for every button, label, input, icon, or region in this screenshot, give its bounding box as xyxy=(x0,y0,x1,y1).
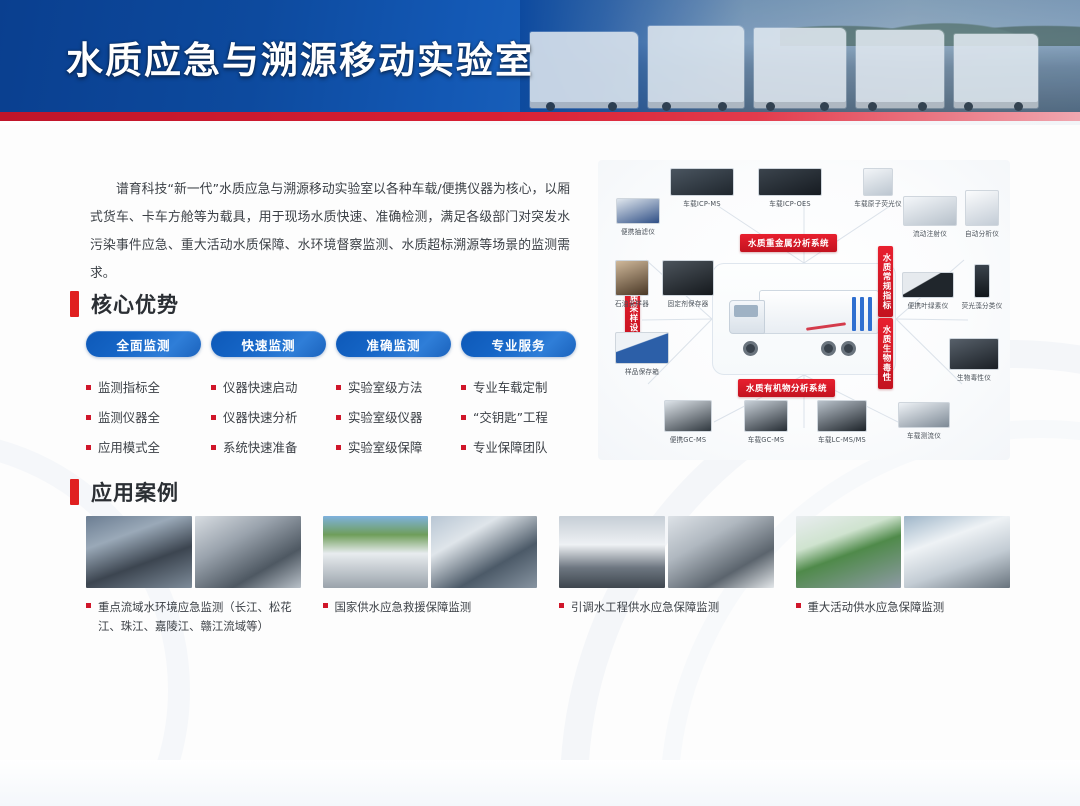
equipment-image xyxy=(744,400,788,432)
advantage-label: “交钥匙”工程 xyxy=(473,408,548,426)
advantage-item: 专业车载定制 xyxy=(461,378,576,396)
equipment-icp-oes: 车载ICP-OES xyxy=(758,168,822,208)
advantage-item: 实验室级保障 xyxy=(336,438,451,456)
truck-wheel xyxy=(841,341,856,356)
case-photo xyxy=(195,516,301,588)
case-caption: 重点流域水环境应急监测（长江、松花江、珠江、嘉陵江、赣江流域等） xyxy=(86,598,301,636)
case-caption-text: 重大活动供水应急保障监测 xyxy=(808,598,945,617)
case-item[interactable]: 引调水工程供水应急保障监测 xyxy=(559,516,774,636)
truck-shape xyxy=(648,26,744,108)
equipment-auto-analyzer: 自动分析仪 xyxy=(950,190,1014,238)
case-photo xyxy=(86,516,192,588)
equipment-flow-meter: 车载测流仪 xyxy=(892,402,956,440)
case-caption: 国家供水应急救援保障监测 xyxy=(323,598,538,617)
intro-paragraph: 谱育科技“新一代”水质应急与溯源移动实验室以各种车载/便携仪器为核心，以厢式货车… xyxy=(90,176,570,288)
case-item[interactable]: 国家供水应急救援保障监测 xyxy=(323,516,538,636)
footer-band xyxy=(0,760,1080,806)
equipment-image xyxy=(965,190,999,226)
core-advantages-heading: 核心优势 xyxy=(70,289,179,319)
badge-biotoxicity: 水质生物毒性 xyxy=(878,318,893,389)
advantage-item: 应用模式全 xyxy=(86,438,201,456)
bullet-square-icon xyxy=(336,385,341,390)
application-cases-heading: 应用案例 xyxy=(70,477,179,507)
advantage-pill-service[interactable]: 专业服务 xyxy=(461,331,576,357)
equipment-image xyxy=(664,400,712,432)
equipment-label: 便携GC-MS xyxy=(656,434,720,444)
section-title: 核心优势 xyxy=(91,289,179,319)
equipment-label: 自动分析仪 xyxy=(950,228,1014,238)
equipment-image xyxy=(898,402,950,428)
advantage-label: 监测指标全 xyxy=(98,378,160,396)
case-item[interactable]: 重大活动供水应急保障监测 xyxy=(796,516,1011,636)
bullet-square-icon xyxy=(86,385,91,390)
truck-cab xyxy=(729,300,765,334)
red-bar-marker xyxy=(70,291,79,317)
equipment-image xyxy=(615,260,649,296)
equipment-fixative-case: 固定剂保存器 xyxy=(656,260,720,308)
equipment-vehicle-gcms: 车载GC-MS xyxy=(734,400,798,444)
equipment-label: 车载LC-MS/MS xyxy=(810,434,874,444)
section-title: 应用案例 xyxy=(91,477,179,507)
advantage-pill-fast[interactable]: 快速监测 xyxy=(211,331,326,357)
bullet-square-icon xyxy=(336,415,341,420)
case-caption-text: 重点流域水环境应急监测（长江、松花江、珠江、嘉陵江、赣江流域等） xyxy=(98,598,301,636)
equipment-label: 固定剂保存器 xyxy=(656,298,720,308)
banner-truck-photo xyxy=(520,0,1080,112)
equipment-label: 生物毒性仪 xyxy=(942,372,1006,382)
truck-shape xyxy=(954,34,1038,108)
advantage-column: 仪器快速启动 仪器快速分析 系统快速准备 xyxy=(211,370,326,456)
equipment-image xyxy=(616,198,660,224)
equipment-label: 车载ICP-MS xyxy=(670,198,734,208)
truck-window xyxy=(734,305,758,317)
advantage-label: 实验室级保障 xyxy=(348,438,422,456)
instrument-rack xyxy=(852,297,856,331)
equipment-label: 车载测流仪 xyxy=(892,430,956,440)
equipment-label: 荧光藻分类仪 xyxy=(950,300,1014,310)
badge-routine-indicators: 水质常规指标 xyxy=(878,246,893,317)
advantage-item: 监测仪器全 xyxy=(86,408,201,426)
advantage-item: 实验室级仪器 xyxy=(336,408,451,426)
equipment-algae-classifier: 荧光藻分类仪 xyxy=(950,264,1014,310)
advantage-label: 系统快速准备 xyxy=(223,438,297,456)
case-item[interactable]: 重点流域水环境应急监测（长江、松花江、珠江、嘉陵江、赣江流域等） xyxy=(86,516,301,636)
bullet-square-icon xyxy=(211,385,216,390)
case-photo xyxy=(559,516,665,588)
advantage-column: 实验室级方法 实验室级仪器 实验室级保障 xyxy=(336,370,451,456)
equipment-image xyxy=(949,338,999,370)
bullet-square-icon xyxy=(336,445,341,450)
advantage-item: 仪器快速分析 xyxy=(211,408,326,426)
equipment-image xyxy=(615,332,669,364)
bullet-square-icon xyxy=(86,445,91,450)
advantage-item: “交钥匙”工程 xyxy=(461,408,576,426)
advantage-label: 专业保障团队 xyxy=(473,438,547,456)
bullet-square-icon xyxy=(461,415,466,420)
advantage-item: 专业保障团队 xyxy=(461,438,576,456)
advantage-label: 应用模式全 xyxy=(98,438,160,456)
bullet-square-icon xyxy=(86,415,91,420)
bullet-square-icon xyxy=(559,603,564,608)
case-photos xyxy=(323,516,538,588)
badge-heavy-metal-system: 水质重金属分析系统 xyxy=(740,234,837,252)
case-photo xyxy=(668,516,774,588)
equipment-label: 车载ICP-OES xyxy=(758,198,822,208)
case-photos xyxy=(86,516,301,588)
page-title: 水质应急与溯源移动实验室 xyxy=(66,30,534,84)
advantage-item: 监测指标全 xyxy=(86,378,201,396)
case-caption: 引调水工程供水应急保障监测 xyxy=(559,598,774,617)
case-photos xyxy=(796,516,1011,588)
case-caption-text: 引调水工程供水应急保障监测 xyxy=(571,598,719,617)
equipment-icp-ms: 车载ICP-MS xyxy=(670,168,734,208)
equipment-image xyxy=(817,400,867,432)
truck-wheel xyxy=(743,341,758,356)
diagram-center-vehicle xyxy=(712,263,896,375)
equipment-portable-filter: 便携抽滤仪 xyxy=(606,198,670,236)
badge-organic-system: 水质有机物分析系统 xyxy=(738,379,835,397)
case-photo xyxy=(431,516,537,588)
equipment-oil-sampler: 石油采样器 xyxy=(600,260,664,308)
equipment-portable-gcms: 便携GC-MS xyxy=(656,400,720,444)
advantage-columns: 监测指标全 监测仪器全 应用模式全 仪器快速启动 仪器快速分析 系统快速准备 实… xyxy=(86,370,576,456)
case-photo xyxy=(323,516,429,588)
bullet-square-icon xyxy=(86,603,91,608)
bullet-square-icon xyxy=(211,445,216,450)
advantage-pill-comprehensive[interactable]: 全面监测 xyxy=(86,331,201,357)
case-caption-text: 国家供水应急救援保障监测 xyxy=(335,598,472,617)
equipment-image xyxy=(974,264,990,298)
case-photo xyxy=(796,516,902,588)
truck-shape xyxy=(530,32,638,108)
advantage-pill-accurate[interactable]: 准确监测 xyxy=(336,331,451,357)
instrument-rack xyxy=(868,297,872,331)
advantage-item: 实验室级方法 xyxy=(336,378,451,396)
equipment-vehicle-lcmsms: 车载LC-MS/MS xyxy=(810,400,874,444)
truck-shape xyxy=(856,30,944,108)
advantage-label: 仪器快速启动 xyxy=(223,378,297,396)
case-caption: 重大活动供水应急保障监测 xyxy=(796,598,1011,617)
case-photos xyxy=(559,516,774,588)
advantage-column: 专业车载定制 “交钥匙”工程 专业保障团队 xyxy=(461,370,576,456)
advantage-label: 仪器快速分析 xyxy=(223,408,297,426)
case-strip: 重点流域水环境应急监测（长江、松花江、珠江、嘉陵江、赣江流域等） 国家供水应急救… xyxy=(86,516,1010,636)
truck-wheel xyxy=(821,341,836,356)
equipment-label: 便携抽滤仪 xyxy=(606,226,670,236)
bullet-square-icon xyxy=(461,385,466,390)
advantage-item: 仪器快速启动 xyxy=(211,378,326,396)
equipment-image xyxy=(902,272,954,298)
advantage-label: 实验室级仪器 xyxy=(348,408,422,426)
advantage-label: 专业车载定制 xyxy=(473,378,547,396)
truck-shape xyxy=(754,28,846,108)
equipment-image xyxy=(903,196,957,226)
bullet-square-icon xyxy=(323,603,328,608)
equipment-image xyxy=(758,168,822,196)
advantage-column: 监测指标全 监测仪器全 应用模式全 xyxy=(86,370,201,456)
equipment-label: 样品保存箱 xyxy=(610,366,674,376)
truck-body xyxy=(759,290,879,334)
equipment-image xyxy=(863,168,893,196)
advantage-label: 监测仪器全 xyxy=(98,408,160,426)
red-bar-marker xyxy=(70,479,79,505)
mobile-lab-truck-icon xyxy=(729,288,881,350)
advantage-pill-row: 全面监测 快速监测 准确监测 专业服务 xyxy=(86,331,576,357)
equipment-biotoxicity-analyzer: 生物毒性仪 xyxy=(942,338,1006,382)
banner-red-stripe xyxy=(0,112,1080,121)
instrument-rack xyxy=(860,297,864,331)
system-diagram: 水质重金属分析系统 水质有机物分析系统 水质采样设备 水质常规指标 水质生物毒性… xyxy=(598,160,1010,460)
equipment-image xyxy=(662,260,714,296)
truck-red-stripe xyxy=(806,322,846,331)
equipment-label: 石油采样器 xyxy=(600,298,664,308)
equipment-label: 车载GC-MS xyxy=(734,434,798,444)
advantage-label: 实验室级方法 xyxy=(348,378,422,396)
case-photo xyxy=(904,516,1010,588)
bullet-square-icon xyxy=(211,415,216,420)
header-banner: 水质应急与溯源移动实验室 xyxy=(0,0,1080,112)
advantage-item: 系统快速准备 xyxy=(211,438,326,456)
equipment-image xyxy=(670,168,734,196)
equipment-sample-cooler: 样品保存箱 xyxy=(610,332,674,376)
banner-white-stripe xyxy=(0,121,1080,125)
bullet-square-icon xyxy=(461,445,466,450)
bullet-square-icon xyxy=(796,603,801,608)
